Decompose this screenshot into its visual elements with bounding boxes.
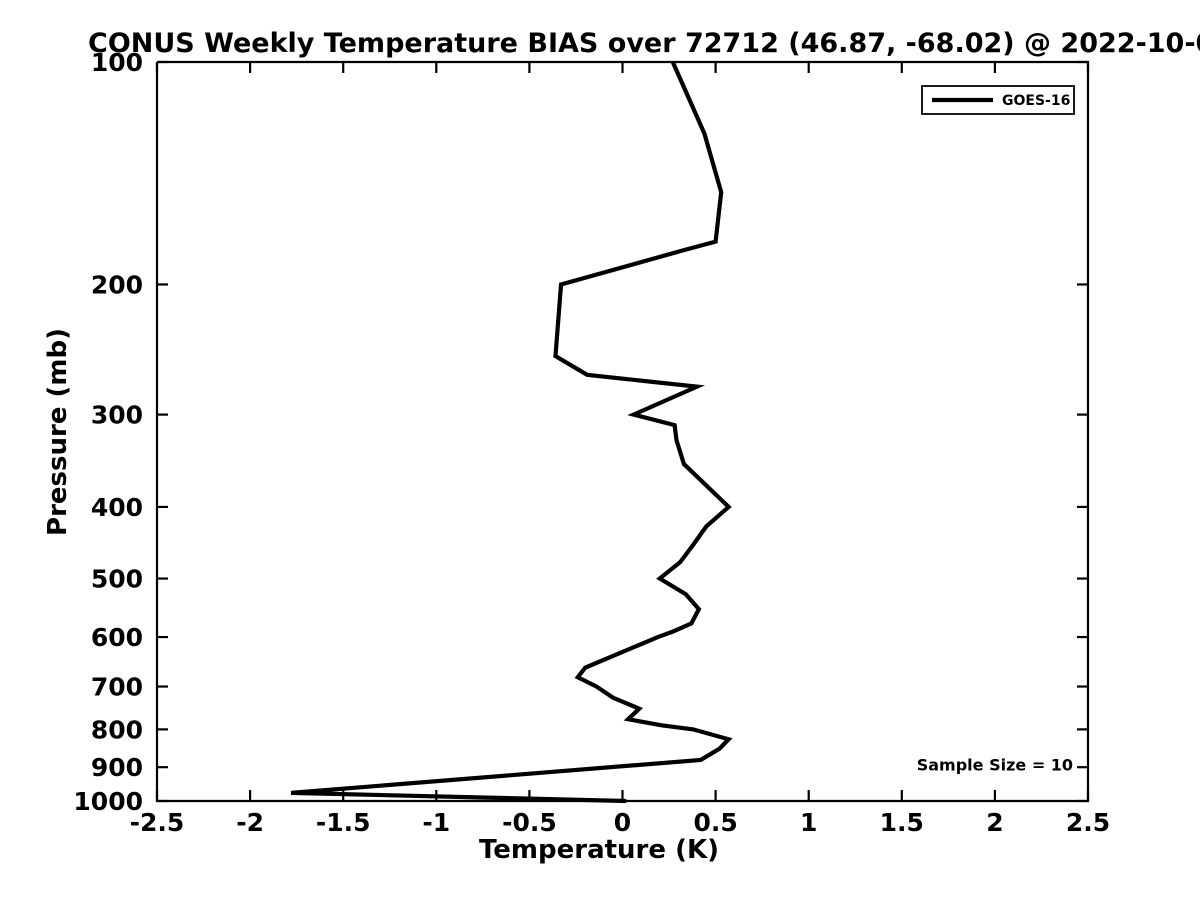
y-tick-label: 500 — [91, 565, 143, 594]
x-axis-title: Temperature (K) — [479, 835, 719, 865]
x-tick-label: 2.5 — [1066, 808, 1110, 837]
series-line-goes-16 — [291, 62, 729, 801]
x-tick-label: -0.5 — [502, 808, 557, 837]
y-axis-ticks: 1002003004005006007008009001000 — [73, 48, 1088, 816]
y-tick-label: 300 — [91, 401, 143, 430]
x-tick-label: 0.5 — [693, 808, 737, 837]
data-series-group — [291, 62, 729, 801]
y-axis-title: Pressure (mb) — [43, 328, 73, 536]
chart-title: CONUS Weekly Temperature BIAS over 72712… — [88, 28, 1200, 59]
y-tick-label: 800 — [91, 715, 143, 744]
y-tick-label: 100 — [91, 48, 143, 77]
chart-figure: CONUS Weekly Temperature BIAS over 72712… — [0, 0, 1200, 900]
x-tick-label: 2 — [986, 808, 1003, 837]
x-tick-label: -1 — [422, 808, 450, 837]
plot-axes — [157, 62, 1088, 801]
y-tick-label: 200 — [91, 270, 143, 299]
x-tick-label: 1 — [800, 808, 817, 837]
annotation-sample-size: Sample Size = 10 — [917, 756, 1073, 775]
y-tick-label: 400 — [91, 493, 143, 522]
y-tick-label: 700 — [91, 673, 143, 702]
y-tick-label: 900 — [91, 753, 143, 782]
x-tick-label: 1.5 — [880, 808, 924, 837]
axes-frame — [157, 62, 1088, 801]
x-tick-label: -1.5 — [316, 808, 371, 837]
annotation-group: Sample Size = 10 — [917, 756, 1073, 775]
legend[interactable]: GOES-16 — [922, 86, 1074, 114]
x-tick-label: -2.5 — [130, 808, 185, 837]
x-tick-label: -2 — [236, 808, 264, 837]
temperature-bias-profile-chart: CONUS Weekly Temperature BIAS over 72712… — [0, 0, 1200, 900]
x-tick-label: 0 — [614, 808, 631, 837]
x-axis-ticks: -2.5-2-1.5-1-0.500.511.522.5 — [130, 62, 1110, 837]
y-tick-label: 600 — [91, 623, 143, 652]
legend-label-goes-16: GOES-16 — [1002, 93, 1070, 109]
